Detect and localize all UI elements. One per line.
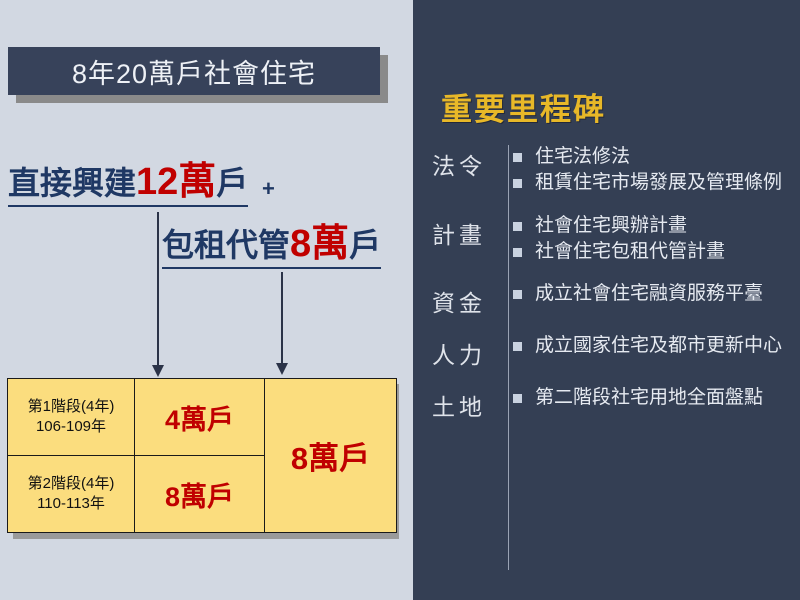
bullet-square-icon bbox=[513, 222, 522, 231]
list-item: 社會住宅包租代管計畫 bbox=[513, 240, 800, 264]
milestone-item-text: 住宅法修法 bbox=[535, 145, 630, 169]
table-row: 第1階段(4年) 106-109年 4萬戶 8萬戶 bbox=[8, 379, 397, 456]
list-item: 租賃住宅市場發展及管理條例 bbox=[513, 171, 800, 195]
milestone-item-text: 租賃住宅市場發展及管理條例 bbox=[535, 171, 782, 195]
milestone-items-law: 住宅法修法 租賃住宅市場發展及管理條例 bbox=[495, 145, 800, 198]
list-item: 社會住宅興辦計畫 bbox=[513, 214, 800, 238]
down-arrow-icon-left bbox=[157, 212, 159, 366]
headline-2-highlight: 8萬 bbox=[290, 223, 349, 265]
bullet-square-icon bbox=[513, 342, 522, 351]
down-arrow-icon-right bbox=[281, 272, 283, 364]
banner-title-text: 8年20萬戶社會住宅 bbox=[72, 52, 316, 91]
milestone-row-land: 土地 第二階段社宅用地全面盤點 bbox=[413, 386, 800, 422]
right-panel: 重要里程碑 法令 住宅法修法 租賃住宅市場發展及管理條例 計畫 社會住 bbox=[413, 0, 800, 600]
quantity-cell-1: 4萬戶 bbox=[135, 379, 265, 456]
list-item: 成立社會住宅融資服務平臺 bbox=[513, 282, 800, 306]
milestones-title: 重要里程碑 bbox=[441, 84, 606, 129]
milestone-item-text: 成立國家住宅及都市更新中心 bbox=[535, 334, 782, 358]
milestone-items-manpower: 成立國家住宅及都市更新中心 bbox=[495, 334, 800, 360]
headline-1-highlight: 12萬 bbox=[136, 161, 216, 203]
milestone-category-manpower: 人力 bbox=[413, 334, 495, 370]
list-item: 第二階段社宅用地全面盤點 bbox=[513, 386, 800, 410]
headline-direct-build: 直接興建12萬戶 bbox=[8, 163, 248, 207]
milestone-list: 法令 住宅法修法 租賃住宅市場發展及管理條例 計畫 社會住宅興辦計畫 bbox=[413, 145, 800, 438]
bullet-square-icon bbox=[513, 153, 522, 162]
list-item: 住宅法修法 bbox=[513, 145, 800, 169]
stage-cell-2: 第2階段(4年) 110-113年 bbox=[8, 456, 135, 533]
bullet-square-icon bbox=[513, 290, 522, 299]
quantity-cell-2: 8萬戶 bbox=[135, 456, 265, 533]
milestone-row-funding: 資金 成立社會住宅融資服務平臺 bbox=[413, 282, 800, 318]
bullet-square-icon bbox=[513, 179, 522, 188]
headline-1-prefix: 直接興建 bbox=[8, 165, 136, 201]
milestone-category-plan: 計畫 bbox=[413, 214, 495, 250]
plan-table: 第1階段(4年) 106-109年 4萬戶 8萬戶 第2階段(4年) 110-1… bbox=[7, 378, 397, 533]
headline-1-suffix: 戶 bbox=[216, 165, 248, 201]
headline-sublease-manage: 包租代管8萬戶 bbox=[162, 225, 381, 269]
headline-2-suffix: 戶 bbox=[349, 227, 381, 263]
stage-2-line1: 第2階段(4年) bbox=[8, 474, 134, 494]
headline-plus-sign: + bbox=[262, 176, 275, 202]
stage-1-line2: 106-109年 bbox=[8, 417, 134, 437]
milestone-row-plan: 計畫 社會住宅興辦計畫 社會住宅包租代管計畫 bbox=[413, 214, 800, 267]
bullet-square-icon bbox=[513, 248, 522, 257]
milestone-item-text: 成立社會住宅融資服務平臺 bbox=[535, 282, 763, 306]
milestone-category-land: 土地 bbox=[413, 386, 495, 422]
headline-2-prefix: 包租代管 bbox=[162, 227, 290, 263]
stage-1-line1: 第1階段(4年) bbox=[8, 397, 134, 417]
bullet-square-icon bbox=[513, 394, 522, 403]
milestone-row-law: 法令 住宅法修法 租賃住宅市場發展及管理條例 bbox=[413, 145, 800, 198]
milestone-item-text: 第二階段社宅用地全面盤點 bbox=[535, 386, 763, 410]
milestone-category-funding: 資金 bbox=[413, 282, 495, 318]
stage-2-line2: 110-113年 bbox=[8, 494, 134, 514]
stage-cell-1: 第1階段(4年) 106-109年 bbox=[8, 379, 135, 456]
milestone-items-land: 第二階段社宅用地全面盤點 bbox=[495, 386, 800, 412]
milestone-category-law: 法令 bbox=[413, 145, 495, 181]
milestone-item-text: 社會住宅包租代管計畫 bbox=[535, 240, 725, 264]
left-panel: 8年20萬戶社會住宅 直接興建12萬戶 + 包租代管8萬戶 第1階段(4年) 1… bbox=[0, 0, 413, 600]
list-item: 成立國家住宅及都市更新中心 bbox=[513, 334, 800, 358]
milestone-item-text: 社會住宅興辦計畫 bbox=[535, 214, 687, 238]
title-banner: 8年20萬戶社會住宅 bbox=[8, 47, 380, 95]
milestone-row-manpower: 人力 成立國家住宅及都市更新中心 bbox=[413, 334, 800, 370]
milestone-items-plan: 社會住宅興辦計畫 社會住宅包租代管計畫 bbox=[495, 214, 800, 267]
total-cell: 8萬戶 bbox=[265, 379, 397, 533]
milestone-items-funding: 成立社會住宅融資服務平臺 bbox=[495, 282, 800, 308]
